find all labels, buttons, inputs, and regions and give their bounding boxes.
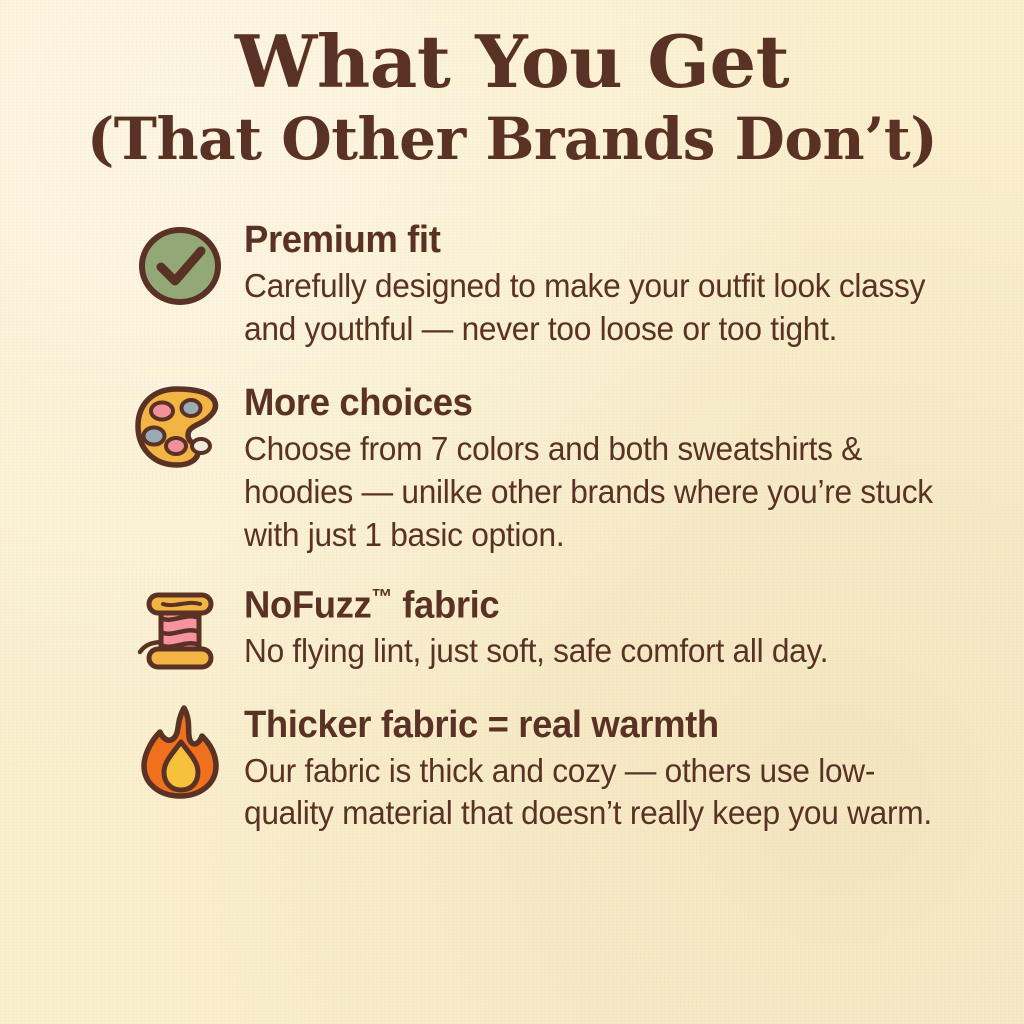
- feature-item: Thicker fabric = real warmth Our fabric …: [132, 701, 984, 836]
- check-circle-icon: [132, 218, 228, 314]
- feature-heading: Premium fit: [244, 220, 954, 261]
- feature-body: No flying lint, just soft, safe comfort …: [244, 630, 954, 673]
- poster-title: What You Get (That Other Brands Don’t): [0, 0, 1024, 168]
- title-line-secondary: (That Other Brands Don’t): [0, 110, 1024, 168]
- trademark-symbol: ™: [371, 584, 392, 609]
- feature-heading: NoFuzz™ fabric: [244, 585, 954, 627]
- feature-body: Choose from 7 colors and both sweatshirt…: [244, 428, 954, 557]
- feature-item: NoFuzz™ fabric No flying lint, just soft…: [132, 581, 984, 679]
- feature-heading: More choices: [244, 383, 954, 424]
- feature-list: Premium fit Carefully designed to make y…: [0, 216, 1024, 835]
- thread-spool-icon: [132, 583, 228, 679]
- feature-item: More choices Choose from 7 colors and bo…: [132, 379, 984, 557]
- feature-body: Our fabric is thick and cozy — others us…: [244, 750, 954, 836]
- feature-body: Carefully designed to make your outfit l…: [244, 265, 954, 351]
- feature-item: Premium fit Carefully designed to make y…: [132, 216, 984, 351]
- feature-text: Premium fit Carefully designed to make y…: [244, 216, 984, 351]
- feature-heading-prefix: NoFuzz: [244, 584, 371, 626]
- paint-palette-icon: [132, 381, 228, 477]
- feature-heading-suffix: fabric: [393, 584, 500, 626]
- feature-text: Thicker fabric = real warmth Our fabric …: [244, 701, 984, 836]
- feature-heading: Thicker fabric = real warmth: [244, 705, 954, 746]
- feature-text: NoFuzz™ fabric No flying lint, just soft…: [244, 581, 984, 674]
- title-line-primary: What You Get: [0, 26, 1024, 98]
- flame-icon: [132, 703, 228, 799]
- poster-canvas: What You Get (That Other Brands Don’t) P…: [0, 0, 1024, 1024]
- feature-text: More choices Choose from 7 colors and bo…: [244, 379, 984, 557]
